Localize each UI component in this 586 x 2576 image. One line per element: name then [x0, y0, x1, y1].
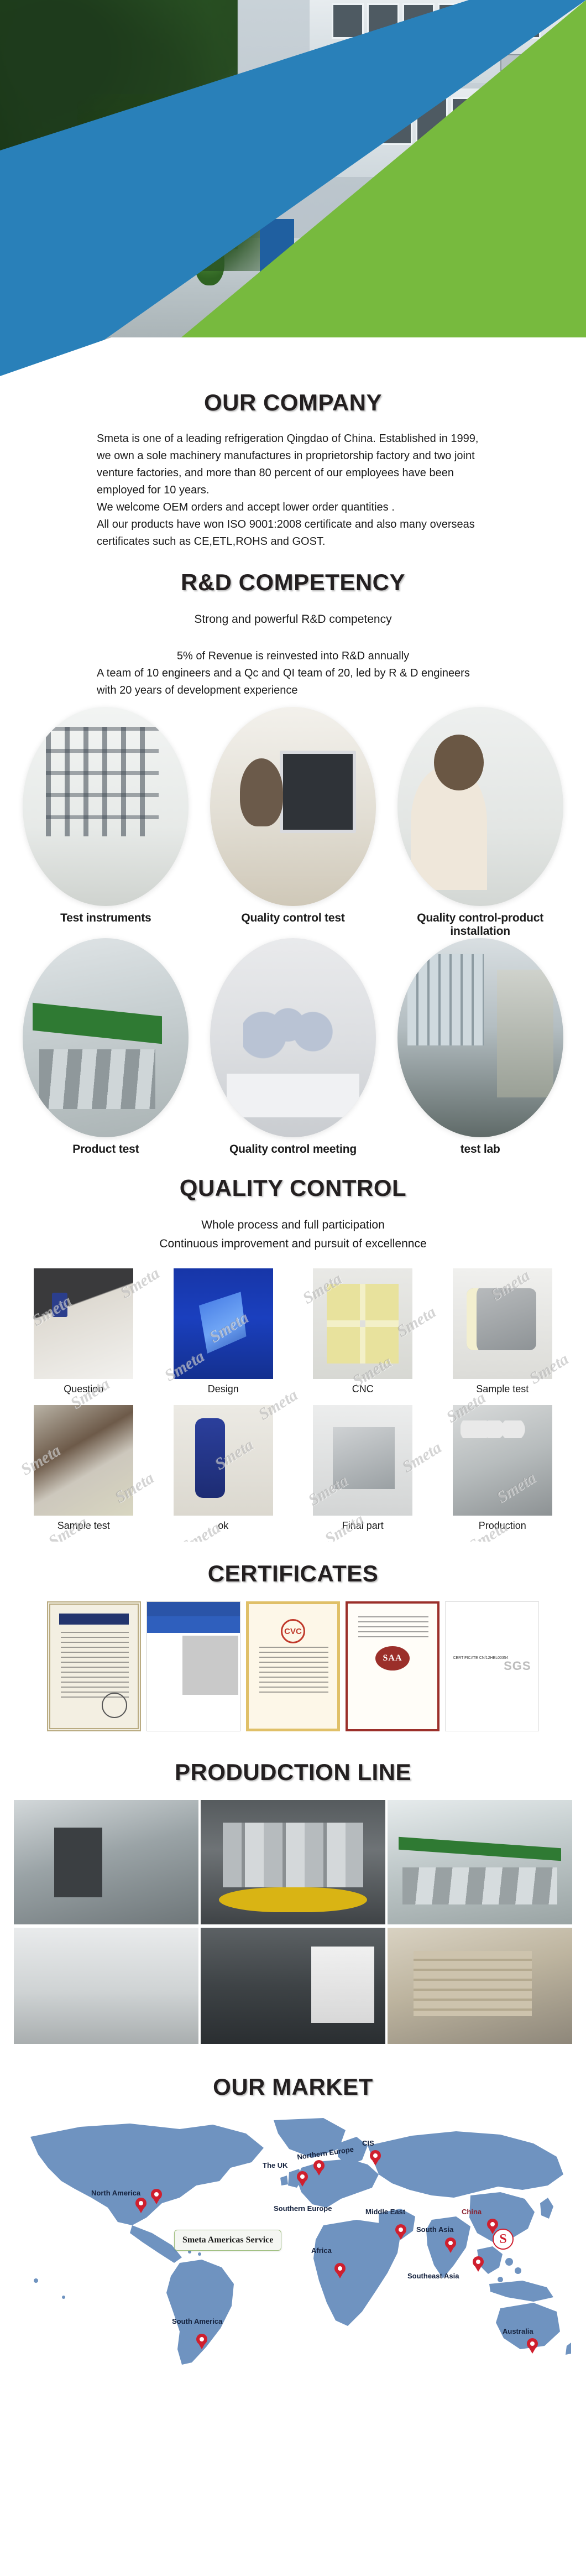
rnd-photo-item: Product test — [14, 938, 198, 1156]
company-paragraph-3: All our products have won ISO 9001:2008 … — [97, 516, 489, 550]
rnd-photo-item: Test instruments — [14, 707, 198, 938]
production-photo — [388, 1928, 572, 2044]
quality-step-caption: Sample test — [435, 1383, 571, 1395]
map-label-the-uk: The UK — [263, 2161, 288, 2169]
sample-test-2-photo — [34, 1405, 133, 1516]
quality-line-1: Whole process and full participation — [0, 1216, 586, 1235]
final-part-photo — [313, 1405, 412, 1516]
map-pin-australia[interactable] — [527, 2338, 538, 2354]
design-photo — [174, 1268, 273, 1379]
rnd-line-2: A team of 10 engineers and a Qc and QI t… — [97, 665, 489, 699]
quality-step-caption: Final part — [295, 1520, 431, 1532]
rnd-photo-caption: Quality control test — [201, 912, 385, 925]
quality-step-caption: Production — [435, 1520, 571, 1532]
production-photo — [201, 1800, 385, 1924]
quality-step-caption: CNC — [295, 1383, 431, 1395]
map-pin-northern-europe[interactable] — [313, 2160, 325, 2176]
question-photo — [34, 1268, 133, 1379]
rnd-photo-item: Quality control test — [201, 707, 385, 938]
map-hq-marker[interactable]: S — [493, 2229, 514, 2250]
test-lab-photo — [397, 938, 563, 1137]
section-quality-control: QUALITY CONTROL Whole process and full p… — [0, 1175, 586, 1547]
quality-step-caption: Sample test — [16, 1520, 151, 1532]
window — [332, 3, 364, 39]
map-pin-north-america-2[interactable] — [151, 2189, 162, 2204]
map-label-southeast-asia: Southeast Asia — [407, 2272, 459, 2280]
cnc-photo — [313, 1268, 412, 1379]
map-label-australia: Australia — [503, 2327, 533, 2335]
etl-seal-icon — [102, 1693, 127, 1718]
quality-control-meeting-photo — [210, 938, 376, 1137]
map-label-china: China — [462, 2208, 482, 2216]
map-label-middle-east: Middle East — [365, 2208, 405, 2216]
map-label-africa: Africa — [311, 2246, 332, 2255]
company-paragraph-2: We welcome OEM orders and accept lower o… — [97, 499, 489, 516]
map-pin-south-asia[interactable] — [445, 2237, 456, 2253]
product-test-photo — [23, 938, 189, 1137]
rnd-line-1: 5% of Revenue is reinvested into R&D ann… — [97, 648, 489, 665]
quality-step-caption: Design — [156, 1383, 291, 1395]
sgs-logo-icon: SGS — [504, 1659, 531, 1673]
quality-step: Final part — [293, 1405, 433, 1542]
rnd-photo-caption: Quality control-product installation — [388, 912, 572, 938]
map-label-south-america: South America — [172, 2317, 222, 2325]
quality-step-caption: Question — [16, 1383, 151, 1395]
quality-step: Sample test — [433, 1268, 573, 1405]
section-our-company: OUR COMPANY Smeta is one of a leading re… — [0, 389, 586, 556]
test-instruments-photo — [23, 707, 189, 906]
certificate-sgs: CERTIFICATE CN/12HEL00354 SGS — [445, 1601, 539, 1731]
map-pin-southeast-asia[interactable] — [473, 2256, 484, 2272]
production-photo — [14, 1928, 198, 2044]
page-title-our-market: OUR MARKET — [0, 2074, 586, 2100]
page-title-rnd: R&D COMPETENCY — [0, 569, 586, 596]
certificate-etl — [47, 1601, 141, 1731]
page-title-production-line: PRODUDCTION LINE — [0, 1759, 586, 1786]
map-pin-cis[interactable] — [370, 2150, 381, 2166]
section-our-market: OUR MARKET — [0, 2074, 586, 2391]
quality-control-installation-photo — [397, 707, 563, 906]
quality-step: Sample test — [14, 1405, 154, 1542]
production-photo-row-1 — [14, 1800, 572, 1924]
production-photo — [14, 1800, 198, 1924]
ok-gauge-photo — [174, 1405, 273, 1516]
rnd-photo-caption: Quality control meeting — [201, 1143, 385, 1156]
page-title-certificates: CERTIFICATES — [0, 1560, 586, 1587]
certificate-saa: SAA — [346, 1601, 439, 1731]
map-pin-southern-europe[interactable] — [297, 2171, 308, 2187]
quality-step: ok — [154, 1405, 294, 1542]
section-certificates: CERTIFICATES CVC SAA CERTIFICATE CN/12HE… — [0, 1560, 586, 1746]
quality-control-test-photo — [210, 707, 376, 906]
saa-mark-icon: SAA — [375, 1646, 410, 1671]
quality-step-caption: ok — [156, 1520, 291, 1532]
certificate-iec — [146, 1601, 240, 1731]
company-paragraph-1: Smeta is one of a leading refrigeration … — [97, 430, 489, 499]
quality-step-grid: Question Design CNC Sample test Sample t… — [14, 1268, 572, 1542]
certificates-row: CVC SAA CERTIFICATE CN/12HEL00354 SGS — [14, 1601, 572, 1740]
quality-step: Question — [14, 1268, 154, 1405]
quality-step: Design — [154, 1268, 294, 1405]
production-photo — [388, 1800, 572, 1924]
rnd-photo-caption: Test instruments — [14, 912, 198, 925]
page-title-quality-control: QUALITY CONTROL — [0, 1175, 586, 1201]
page-title-our-company: OUR COMPANY — [0, 389, 586, 416]
world-map-svg — [14, 2115, 572, 2375]
map-callout-americas-service: Smeta Americas Service — [174, 2230, 281, 2251]
section-production-line: PRODUDCTION LINE — [0, 1759, 586, 2060]
map-pin-africa[interactable] — [334, 2263, 346, 2278]
quality-line-2: Continuous improvement and pursuit of ex… — [0, 1235, 586, 1253]
world-map: North America South America The UK North… — [14, 2115, 572, 2375]
section-rnd-competency: R&D COMPETENCY Strong and powerful R&D c… — [0, 569, 586, 1162]
certificate-cvc: CVC — [246, 1601, 340, 1731]
map-label-south-asia: South Asia — [416, 2225, 453, 2234]
production-photo — [453, 1405, 552, 1516]
map-pin-north-america[interactable] — [135, 2198, 146, 2213]
rnd-photo-caption: test lab — [388, 1143, 572, 1156]
rnd-subtitle: Strong and powerful R&D competency — [0, 610, 586, 629]
rnd-photo-item: Quality control meeting — [201, 938, 385, 1156]
rnd-photo-item: test lab — [388, 938, 572, 1156]
rnd-photo-caption: Product test — [14, 1143, 198, 1156]
rnd-photo-grid: Test instruments Quality control test Qu… — [14, 707, 572, 1156]
hero-banner — [0, 0, 586, 376]
cvc-mark-icon: CVC — [281, 1619, 305, 1643]
sample-test-photo — [453, 1268, 552, 1379]
production-photo — [201, 1928, 385, 2044]
map-pin-middle-east[interactable] — [395, 2224, 406, 2240]
production-photo-row-2 — [14, 1928, 572, 2044]
map-label-cis: CIS — [362, 2139, 374, 2147]
map-pin-south-america[interactable] — [196, 2334, 207, 2349]
map-label-north-america: North America — [91, 2189, 140, 2197]
rnd-photo-item: Quality control-product installation — [388, 707, 572, 938]
quality-step: Production — [433, 1405, 573, 1542]
sgs-certificate-number: CERTIFICATE CN/12HEL00354 — [453, 1656, 508, 1660]
map-label-southern-europe: Southern Europe — [274, 2204, 332, 2213]
quality-step: CNC — [293, 1268, 433, 1405]
